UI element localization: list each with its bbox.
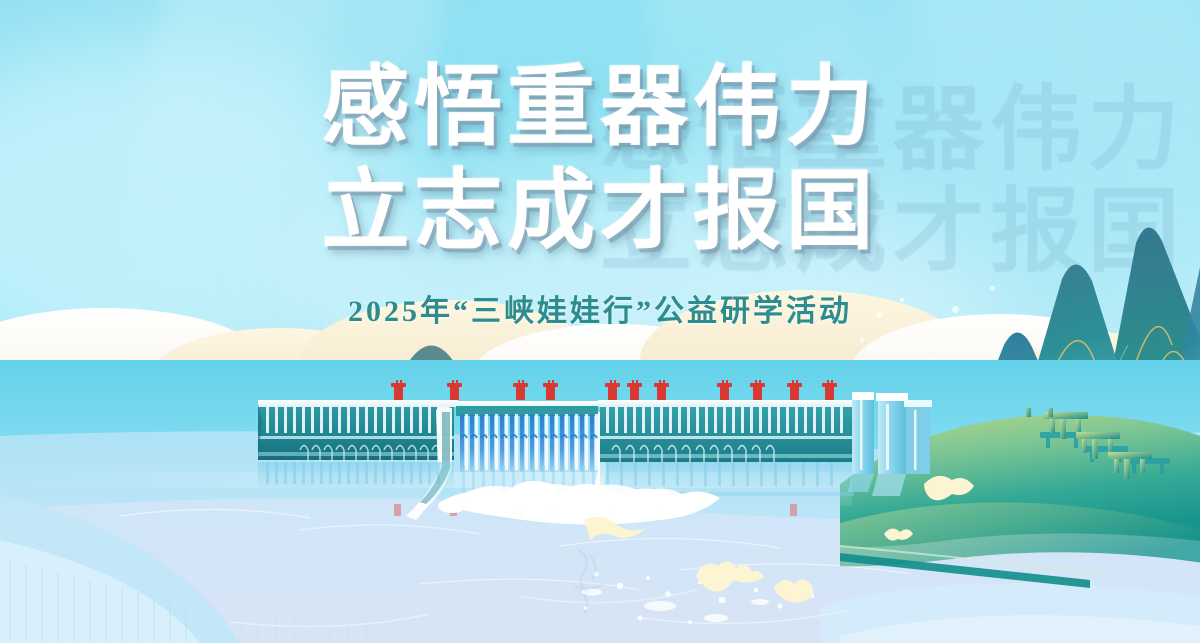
ship-lift-towers xyxy=(848,392,932,496)
dam-left-section xyxy=(258,400,458,462)
watermark-seal xyxy=(560,540,620,620)
dam-right-section xyxy=(598,400,854,462)
dam-crest-red-towers xyxy=(391,380,837,400)
poster-banner: 感悟重器伟力 立志成才报国 xyxy=(0,0,1200,643)
